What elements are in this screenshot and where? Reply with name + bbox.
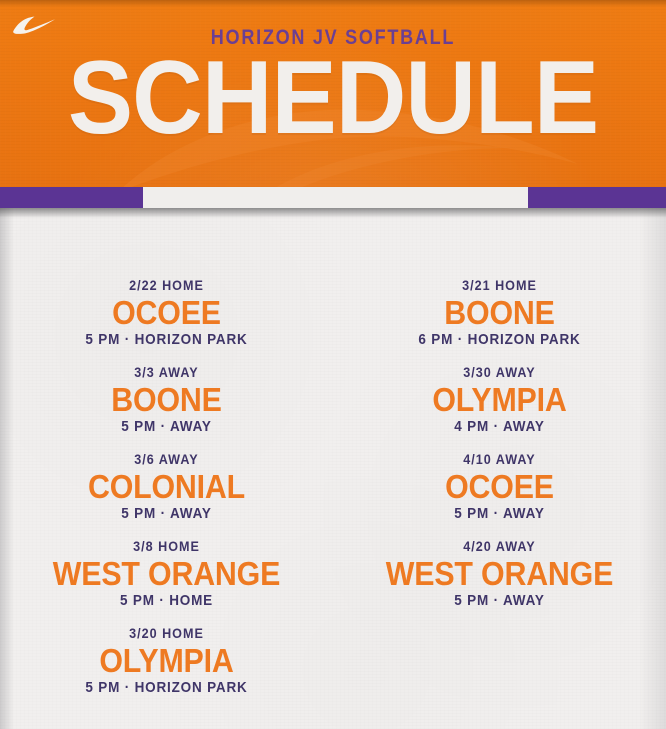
game-entry[interactable]: 3/30 AWAY OLYMPIA 4 PM · AWAY: [333, 363, 666, 450]
game-entry[interactable]: 2/22 HOME OCOEE 5 PM · HORIZON PARK: [0, 276, 333, 363]
schedule-column-left: 2/22 HOME OCOEE 5 PM · HORIZON PARK 3/3 …: [0, 276, 333, 711]
game-opponent: OLYMPIA: [346, 382, 652, 417]
accent-band: [0, 187, 666, 208]
accent-band-white-segment: [143, 187, 528, 208]
game-entry[interactable]: 4/20 AWAY WEST ORANGE 5 PM · AWAY: [333, 537, 666, 624]
game-opponent: OCOEE: [13, 295, 319, 330]
game-time-venue: 5 PM · HOME: [17, 591, 317, 611]
game-date-location: 3/20 HOME: [17, 624, 317, 643]
accent-band-shadow: [0, 208, 666, 218]
poster-wordmark: SCHEDULE: [20, 44, 646, 152]
game-entry[interactable]: 4/10 AWAY OCOEE 5 PM · AWAY: [333, 450, 666, 537]
game-entry[interactable]: 3/21 HOME BOONE 6 PM · HORIZON PARK: [333, 276, 666, 363]
game-opponent: OCOEE: [346, 469, 652, 504]
schedule-column-right: 3/21 HOME BOONE 6 PM · HORIZON PARK 3/30…: [333, 276, 666, 711]
game-date-location: 3/30 AWAY: [350, 363, 650, 382]
game-entry[interactable]: 3/20 HOME OLYMPIA 5 PM · HORIZON PARK: [0, 624, 333, 711]
game-opponent: BOONE: [346, 295, 652, 330]
game-time-venue: 5 PM · AWAY: [350, 504, 650, 524]
game-opponent: BOONE: [13, 382, 319, 417]
game-date-location: 3/8 HOME: [17, 537, 317, 556]
game-entry[interactable]: 3/6 AWAY COLONIAL 5 PM · AWAY: [0, 450, 333, 537]
game-date-location: 4/10 AWAY: [350, 450, 650, 469]
game-date-location: 2/22 HOME: [17, 276, 317, 295]
game-entry[interactable]: 3/8 HOME WEST ORANGE 5 PM · HOME: [0, 537, 333, 624]
game-date-location: 3/3 AWAY: [17, 363, 317, 382]
game-time-venue: 5 PM · AWAY: [17, 504, 317, 524]
game-time-venue: 6 PM · HORIZON PARK: [350, 330, 650, 350]
game-opponent: COLONIAL: [13, 469, 319, 504]
game-time-venue: 5 PM · AWAY: [350, 591, 650, 611]
game-date-location: 4/20 AWAY: [350, 537, 650, 556]
game-time-venue: 5 PM · HORIZON PARK: [17, 330, 317, 350]
game-time-venue: 5 PM · AWAY: [17, 417, 317, 437]
game-opponent: WEST ORANGE: [346, 556, 652, 591]
header-top-shadow: [0, 0, 666, 7]
game-time-venue: 4 PM · AWAY: [350, 417, 650, 437]
game-opponent: OLYMPIA: [13, 643, 319, 678]
game-entry[interactable]: 3/3 AWAY BOONE 5 PM · AWAY: [0, 363, 333, 450]
game-date-location: 3/6 AWAY: [17, 450, 317, 469]
schedule-grid: 2/22 HOME OCOEE 5 PM · HORIZON PARK 3/3 …: [0, 276, 666, 711]
poster-header: HORIZON JV SOFTBALL SCHEDULE: [0, 0, 666, 187]
game-time-venue: 5 PM · HORIZON PARK: [17, 678, 317, 698]
game-date-location: 3/21 HOME: [350, 276, 650, 295]
game-opponent: WEST ORANGE: [13, 556, 319, 591]
schedule-poster: HORIZON JV SOFTBALL SCHEDULE 2/22 HOME O…: [0, 0, 666, 729]
